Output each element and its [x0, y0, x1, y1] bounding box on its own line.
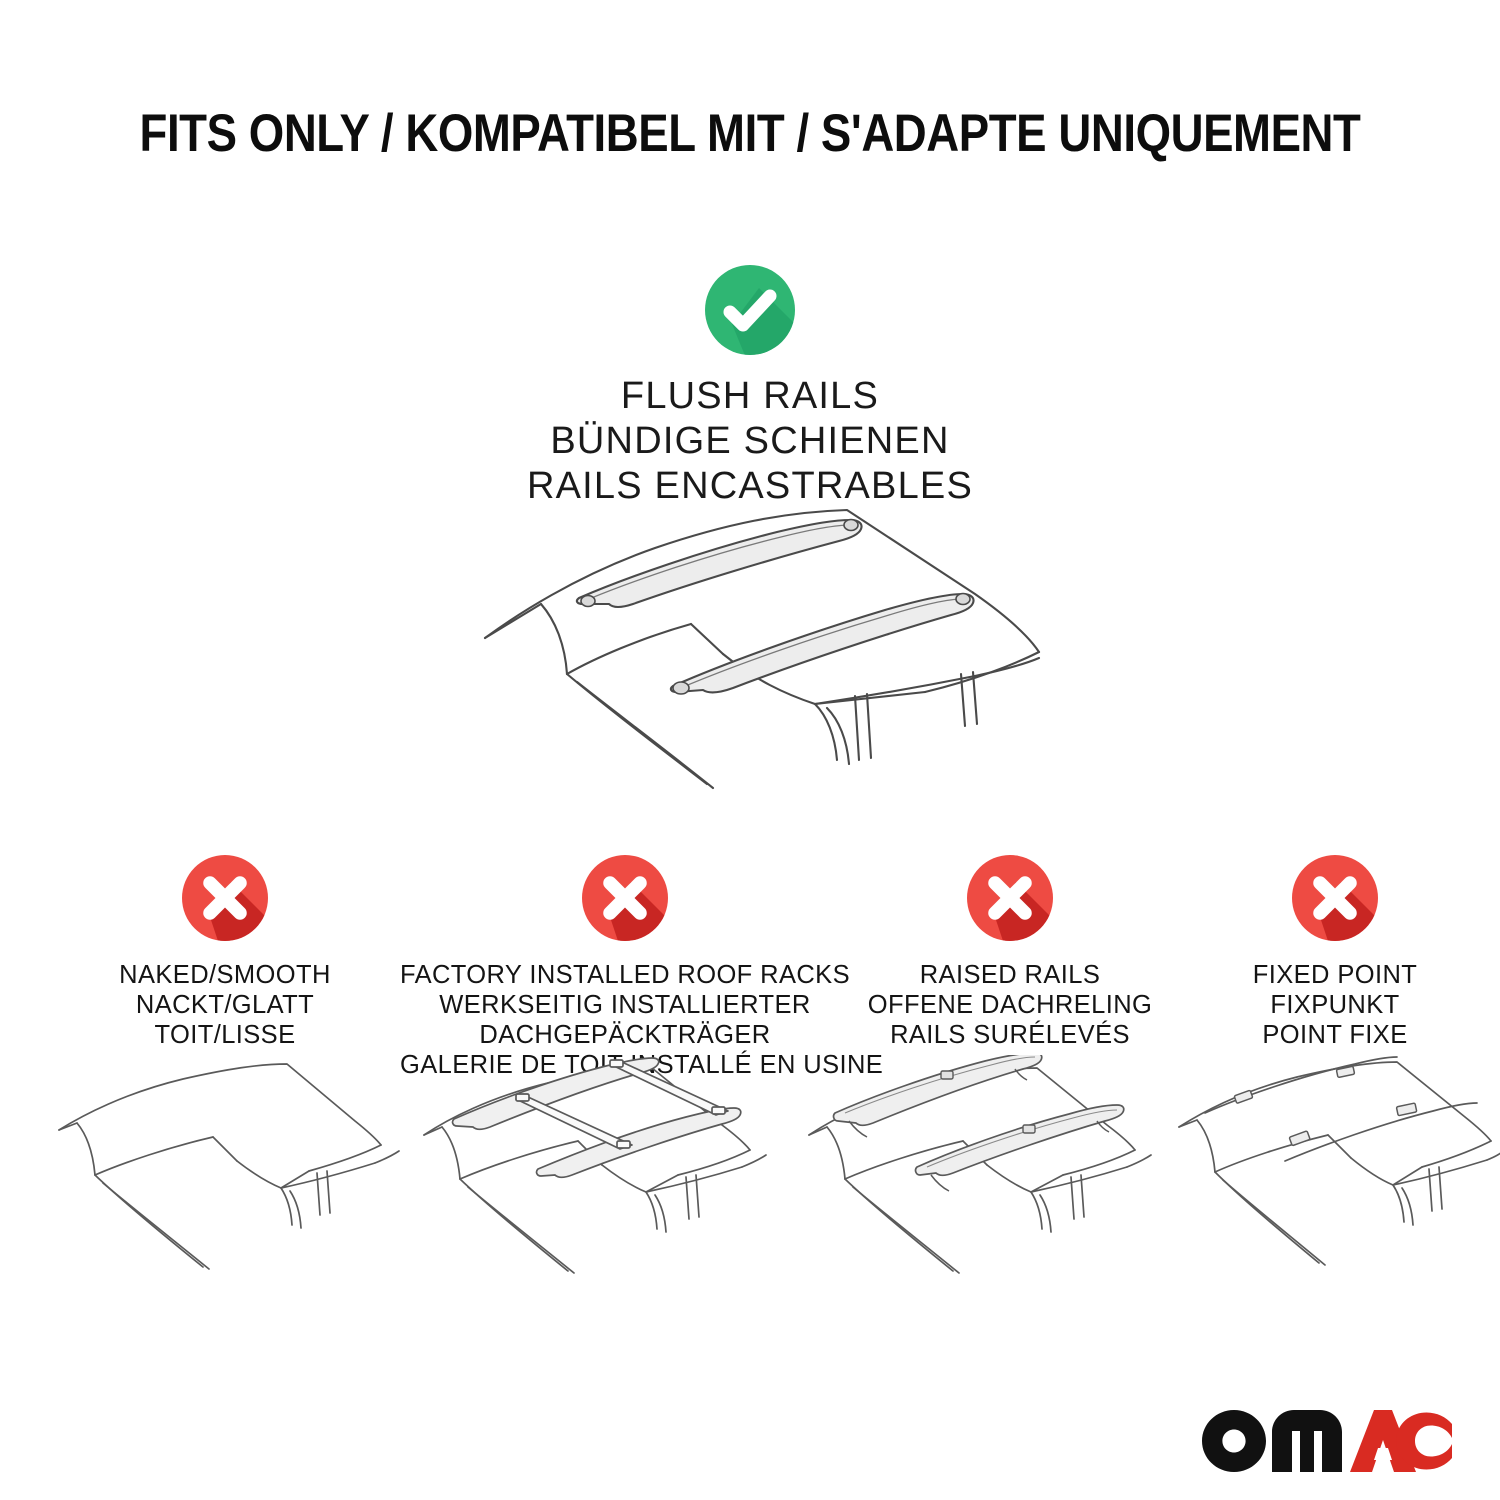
car-roof-raised-rails-illustration [805, 1055, 1175, 1300]
incompatible-section: NAKED/SMOOTH NACKT/GLATT TOIT/LISSE [0, 852, 1500, 1052]
incompatible-label-de: NACKT/GLATT [40, 990, 410, 1020]
omac-logo [1202, 1410, 1452, 1472]
incompatible-item-factory-roof-racks: FACTORY INSTALLED ROOF RACKS WERKSEITIG … [400, 852, 850, 1080]
incompatible-label-de-1: WERKSEITIG INSTALLIERTER [400, 990, 850, 1020]
incompatible-label-de: FIXPUNKT [1170, 990, 1500, 1020]
compatible-section: FLUSH RAILS BÜNDIGE SCHIENEN RAILS ENCAS… [0, 262, 1500, 509]
incompatible-label-en: NAKED/SMOOTH [40, 960, 410, 990]
incompatible-item-raised-rails: RAISED RAILS OFFENE DACHRELING RAILS SUR… [840, 852, 1180, 1050]
incompatible-labels: RAISED RAILS OFFENE DACHRELING RAILS SUR… [840, 960, 1180, 1050]
compatible-label-de: BÜNDIGE SCHIENEN [0, 419, 1500, 464]
compatible-labels: FLUSH RAILS BÜNDIGE SCHIENEN RAILS ENCAS… [0, 374, 1500, 509]
compatible-label-en: FLUSH RAILS [0, 374, 1500, 419]
incompatible-label-fr: RAILS SURÉLEVÉS [840, 1020, 1180, 1050]
incompatible-label-de-2: DACHGEPÄCKTRÄGER [400, 1020, 850, 1050]
cross-circle-icon [179, 852, 271, 944]
car-roof-factory-installed-roof-racks-illustration [420, 1055, 790, 1300]
incompatible-label-fr: POINT FIXE [1170, 1020, 1500, 1050]
infographic-page: FITS ONLY / KOMPATIBEL MIT / S'ADAPTE UN… [0, 0, 1500, 1500]
cross-circle-icon [964, 852, 1056, 944]
incompatible-label-en: FACTORY INSTALLED ROOF RACKS [400, 960, 850, 990]
incompatible-illustrations [0, 1055, 1500, 1300]
incompatible-label-en: FIXED POINT [1170, 960, 1500, 990]
incompatible-labels: NAKED/SMOOTH NACKT/GLATT TOIT/LISSE [40, 960, 410, 1050]
check-circle-icon [702, 262, 798, 358]
cross-circle-icon [1289, 852, 1381, 944]
car-roof-fixed-point-illustration [1175, 1055, 1500, 1300]
incompatible-label-en: RAISED RAILS [840, 960, 1180, 990]
incompatible-item-fixed-point: FIXED POINT FIXPUNKT POINT FIXE [1170, 852, 1500, 1050]
cross-circle-icon [579, 852, 671, 944]
incompatible-labels: FIXED POINT FIXPUNKT POINT FIXE [1170, 960, 1500, 1050]
incompatible-item-naked-smooth: NAKED/SMOOTH NACKT/GLATT TOIT/LISSE [40, 852, 410, 1050]
incompatible-label-de: OFFENE DACHRELING [840, 990, 1180, 1020]
car-roof-naked-smooth-illustration [55, 1055, 405, 1300]
car-roof-with-flush-rails-illustration [455, 498, 1055, 798]
page-title: FITS ONLY / KOMPATIBEL MIT / S'ADAPTE UN… [105, 103, 1395, 164]
incompatible-label-fr: TOIT/LISSE [40, 1020, 410, 1050]
